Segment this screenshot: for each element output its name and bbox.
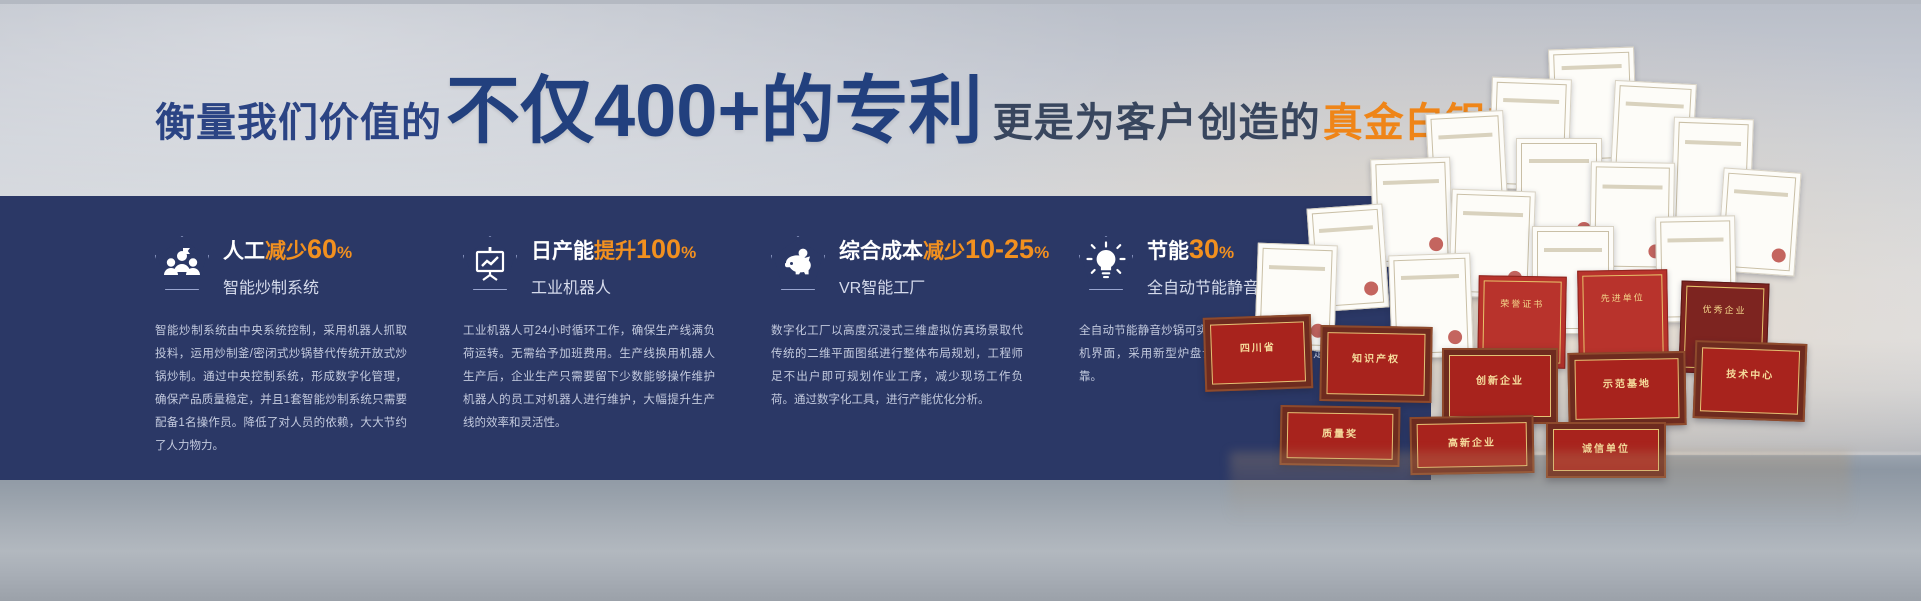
feature-title-prefix: 人工 bbox=[223, 240, 265, 263]
lightbulb-glyph bbox=[1079, 236, 1133, 290]
feature-block-cost: 综合成本减少10-25% VR智能工厂 数字化工厂以高度沉浸式三维虚拟仿真场景取… bbox=[771, 196, 1079, 480]
feature-description: 工业机器人可24小时循环工作，确保生产线满负荷运转。无需给予加班费用。生产线换用… bbox=[463, 320, 715, 435]
award-plaque: 示范基地 bbox=[1567, 351, 1686, 427]
feature-subtitle: 智能炒制系统 bbox=[223, 274, 352, 298]
top-border-line bbox=[0, 0, 1921, 4]
headline-prefix: 衡量我们价值的 bbox=[155, 90, 442, 148]
headline-emphasis: 不仅400+的专利 bbox=[446, 78, 983, 145]
chart-board-icon bbox=[463, 236, 517, 290]
piggy-bank-glyph bbox=[771, 236, 825, 290]
wall-reflection bbox=[1230, 452, 1850, 522]
award-plaque: 知识产权 bbox=[1319, 325, 1432, 403]
award-plaque: 创新企业 bbox=[1442, 348, 1558, 424]
feature-subtitle: VR智能工厂 bbox=[839, 274, 1049, 298]
feature-title-prefix: 日产能 bbox=[531, 240, 594, 263]
feature-title-accent: 减少 bbox=[265, 240, 307, 263]
feature-title: 日产能提升100% bbox=[531, 235, 696, 265]
feature-block-capacity: 日产能提升100% 工业机器人 工业机器人可24小时循环工作，确保生产线满负荷运… bbox=[463, 196, 771, 480]
feature-title-accent: 减少 bbox=[923, 240, 965, 263]
feature-title: 综合成本减少10-25% bbox=[839, 235, 1049, 265]
feature-title-accent: 提升 bbox=[594, 240, 636, 263]
feature-title-percent: % bbox=[1034, 243, 1049, 262]
feature-subtitle: 工业机器人 bbox=[531, 274, 696, 298]
chart-board-glyph bbox=[463, 236, 517, 290]
feature-description: 智能炒制系统由中央系统控制，采用机器人抓取投料，运用炒制釜/密闭式炒锅替代传统开… bbox=[155, 320, 407, 458]
award-certificate: 先进单位 bbox=[1577, 269, 1669, 365]
award-plaque: 四川省 bbox=[1203, 314, 1314, 392]
feature-title-number: 60 bbox=[307, 234, 337, 264]
certificate-wall: 荣誉证书 先进单位 优秀企业 四川省 知识产权 创新企业 示范基地 技术中心 质… bbox=[1160, 30, 1921, 510]
piggy-bank-icon bbox=[771, 236, 825, 290]
feature-title-number: 10-25 bbox=[965, 234, 1034, 264]
people-group-icon bbox=[155, 236, 209, 290]
feature-description: 数字化工厂以高度沉浸式三维虚拟仿真场景取代传统的二维平面图纸进行整体布局规划，工… bbox=[771, 320, 1023, 412]
feature-title-prefix: 综合成本 bbox=[839, 240, 923, 263]
lightbulb-icon bbox=[1079, 236, 1133, 290]
feature-title-percent: % bbox=[337, 243, 352, 262]
feature-title-percent: % bbox=[681, 243, 696, 262]
feature-block-workforce: 人工减少60% 智能炒制系统 智能炒制系统由中央系统控制，采用机器人抓取投料，运… bbox=[155, 196, 463, 480]
feature-title-number: 100 bbox=[636, 234, 681, 264]
promo-banner: 衡量我们价值的 不仅400+的专利 更是为客户创造的 真金白银的效益 bbox=[0, 0, 1921, 601]
feature-title: 人工减少60% bbox=[223, 235, 352, 265]
people-group-glyph bbox=[155, 236, 209, 290]
award-plaque: 技术中心 bbox=[1693, 340, 1808, 422]
